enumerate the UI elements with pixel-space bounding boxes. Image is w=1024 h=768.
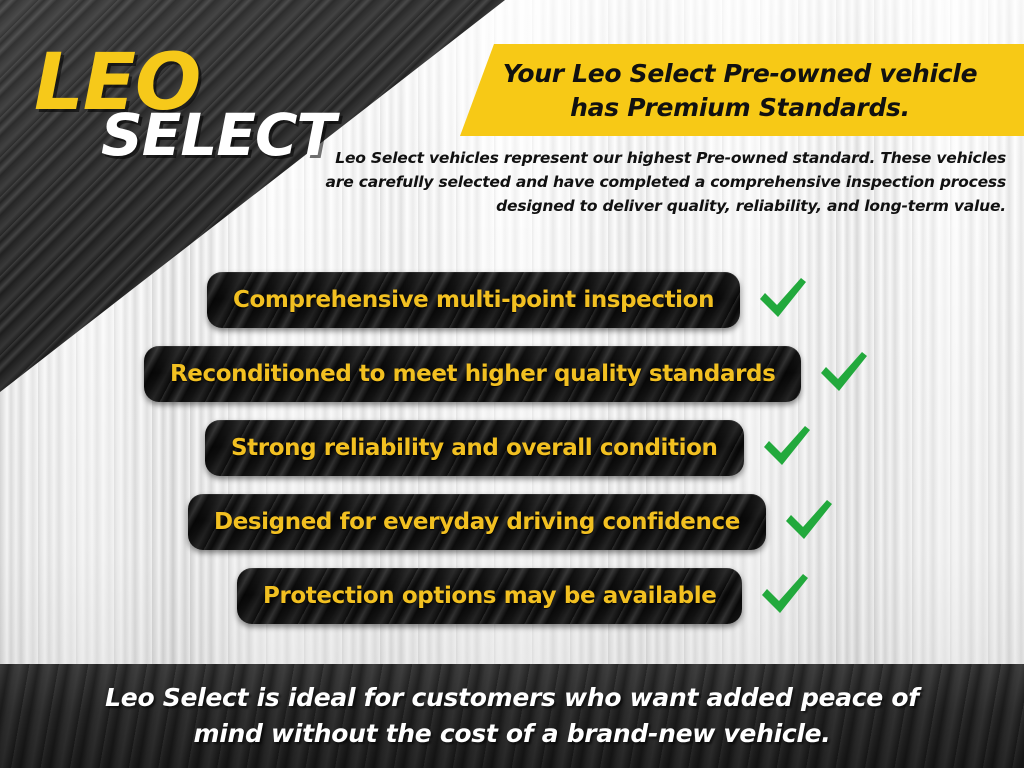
feature-label: Strong reliability and overall condition (231, 435, 718, 461)
feature-row: Strong reliability and overall condition (205, 420, 812, 476)
footer-line-1: Leo Select is ideal for customers who wa… (105, 680, 919, 716)
feature-label: Protection options may be available (263, 583, 716, 609)
feature-row: Reconditioned to meet higher quality sta… (144, 346, 869, 402)
feature-pill[interactable]: Designed for everyday driving confidence (188, 494, 766, 550)
feature-label: Reconditioned to meet higher quality sta… (170, 361, 775, 387)
check-icon (817, 349, 869, 400)
feature-row: Protection options may be available (237, 568, 810, 624)
feature-pill[interactable]: Strong reliability and overall condition (205, 420, 744, 476)
check-icon (782, 497, 834, 548)
feature-label: Comprehensive multi-point inspection (233, 287, 714, 313)
feature-pill[interactable]: Reconditioned to meet higher quality sta… (144, 346, 801, 402)
check-icon (756, 275, 808, 326)
check-icon (758, 571, 810, 622)
footer-line-2: mind without the cost of a brand-new veh… (193, 716, 830, 752)
feature-label: Designed for everyday driving confidence (214, 509, 740, 535)
leo-select-poster: LEO SELECT Your Leo Select Pre-owned veh… (0, 0, 1024, 768)
feature-pill[interactable]: Protection options may be available (237, 568, 742, 624)
feature-list: Comprehensive multi-point inspection Rec… (0, 0, 1024, 768)
check-icon (760, 423, 812, 474)
feature-row: Comprehensive multi-point inspection (207, 272, 808, 328)
footer-message: Leo Select is ideal for customers who wa… (0, 664, 1024, 768)
feature-row: Designed for everyday driving confidence (188, 494, 834, 550)
feature-pill[interactable]: Comprehensive multi-point inspection (207, 272, 740, 328)
